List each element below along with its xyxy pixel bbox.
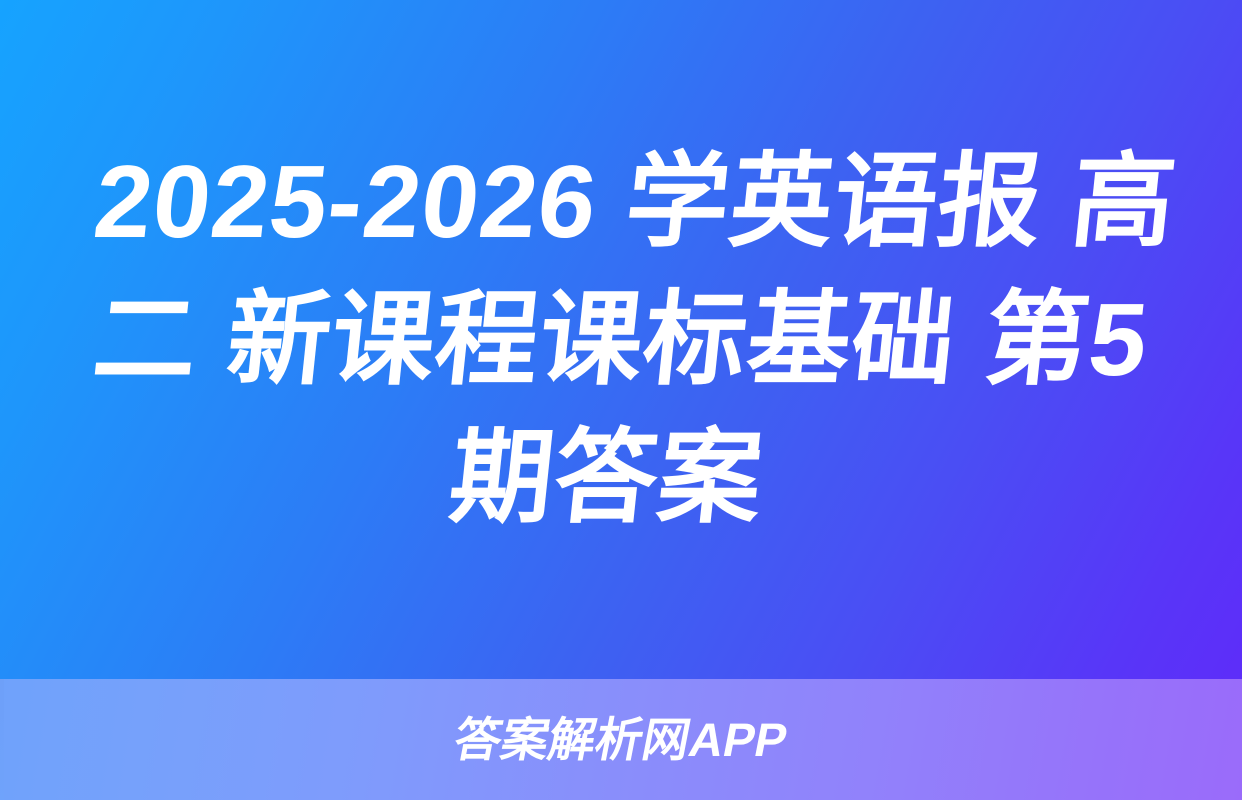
page-title: 2025-2026 学英语报 高二 新课程课标基础 第5期答案 [32, 133, 1210, 547]
answer-banner-card: 2025-2026 学英语报 高二 新课程课标基础 第5期答案 答案解析网APP [0, 0, 1242, 800]
hero-section: 2025-2026 学英语报 高二 新课程课标基础 第5期答案 [0, 0, 1242, 679]
app-watermark-label: 答案解析网APP [451, 716, 792, 763]
watermark-bar: 答案解析网APP [0, 679, 1242, 800]
footer-left-edge-strip [0, 679, 4, 800]
